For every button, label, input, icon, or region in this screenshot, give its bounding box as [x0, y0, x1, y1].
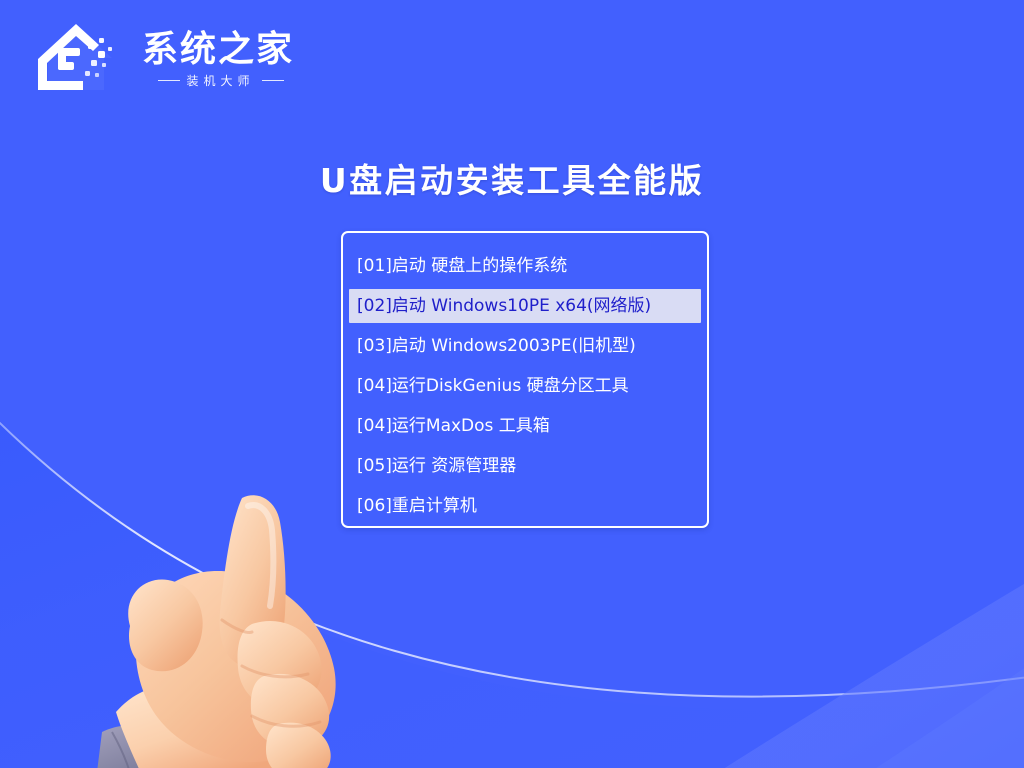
background-arc-lower-2	[840, 640, 1024, 768]
boot-menu-screen: 系统之家 装机大师 U盘启动安装工具全能版 [01]启动 硬盘上的操作系统 [0…	[0, 0, 1024, 768]
tagline-text: 装机大师	[187, 72, 255, 89]
brand-text: 系统之家 装机大师	[142, 31, 294, 89]
menu-item-04-maxdos[interactable]: [04]运行MaxDos 工具箱	[349, 409, 701, 443]
brand-tagline: 装机大师	[153, 72, 284, 89]
tagline-dash-left	[158, 80, 180, 82]
brand-name: 系统之家	[142, 31, 294, 69]
menu-item-06[interactable]: [06]重启计算机	[349, 489, 701, 523]
house-pixel-logo-icon	[36, 18, 128, 98]
pointing-hand-illustration	[96, 480, 396, 768]
menu-item-03[interactable]: [03]启动 Windows2003PE(旧机型)	[349, 329, 701, 363]
menu-item-04-diskgenius[interactable]: [04]运行DiskGenius 硬盘分区工具	[349, 369, 701, 403]
menu-item-05[interactable]: [05]运行 资源管理器	[349, 449, 701, 483]
page-title: U盘启动安装工具全能版	[0, 154, 1024, 202]
background-arc-lower	[690, 560, 1024, 768]
boot-menu-list: [01]启动 硬盘上的操作系统 [02]启动 Windows10PE x64(网…	[341, 231, 709, 528]
brand-logo: 系统之家 装机大师	[36, 18, 294, 98]
tagline-dash-right	[262, 80, 284, 82]
menu-item-02[interactable]: [02]启动 Windows10PE x64(网络版)	[349, 289, 701, 323]
menu-item-01[interactable]: [01]启动 硬盘上的操作系统	[349, 249, 701, 283]
